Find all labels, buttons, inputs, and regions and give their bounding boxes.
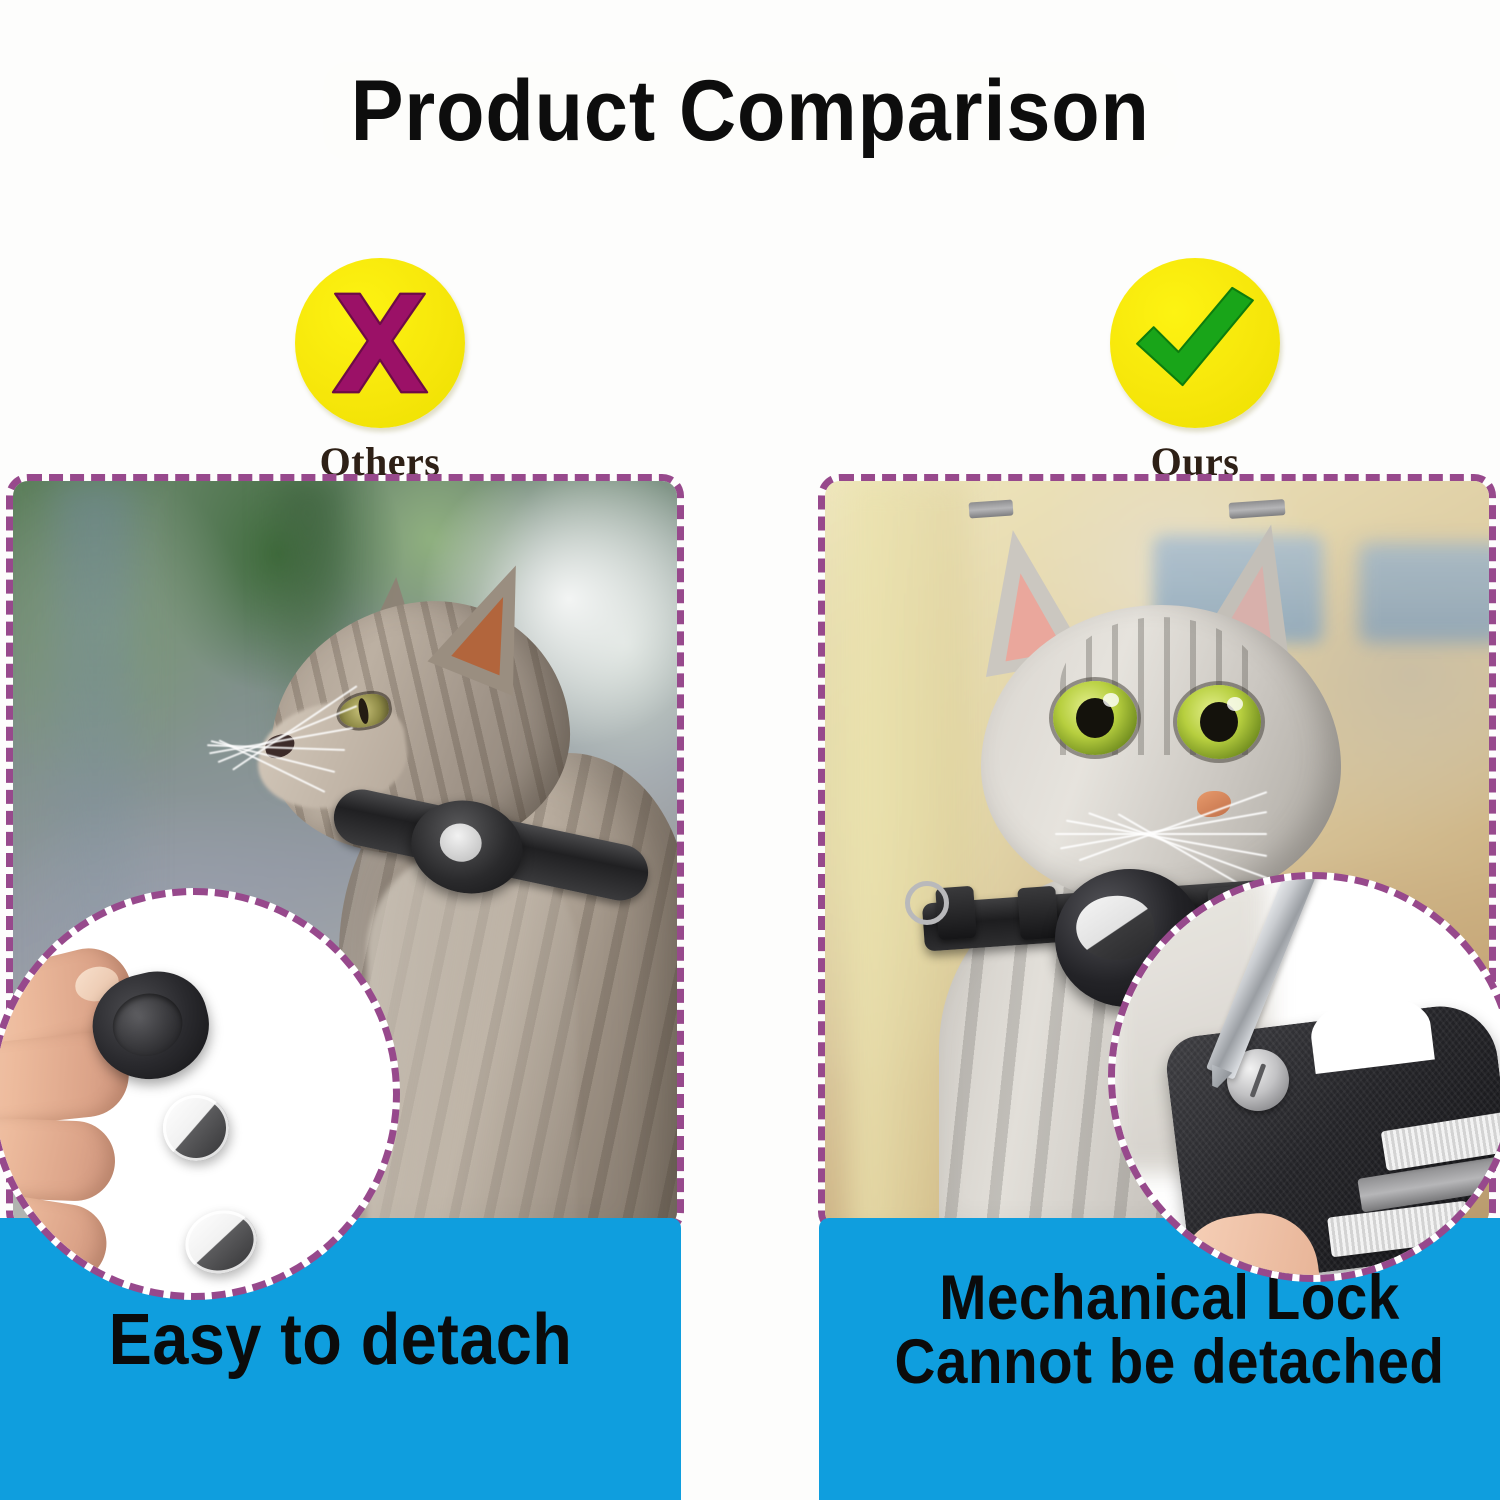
caption-ours-line-2: Cannot be detached (863, 1330, 1476, 1394)
caption-ours-line-1: Mechanical Lock (863, 1266, 1476, 1330)
inset-detail-ours (1108, 872, 1500, 1282)
caption-ours: Mechanical Lock Cannot be detached (854, 1266, 1485, 1395)
caption-others: Easy to detach (34, 1304, 647, 1377)
badge-group-others: Others (250, 258, 510, 485)
check-mark-icon (1133, 282, 1257, 400)
x-mark-icon (324, 287, 436, 399)
page-title: Product Comparison (323, 62, 1177, 160)
page-title-container: Product Comparison (0, 62, 1500, 160)
badge-circle-ours (1110, 258, 1280, 428)
d-ring-icon (905, 881, 949, 925)
inset-detail-others (0, 888, 400, 1300)
badge-circle-others (295, 258, 465, 428)
comparison-infographic: Product Comparison Others Ours (0, 0, 1500, 1500)
badge-group-ours: Ours (1065, 258, 1325, 485)
